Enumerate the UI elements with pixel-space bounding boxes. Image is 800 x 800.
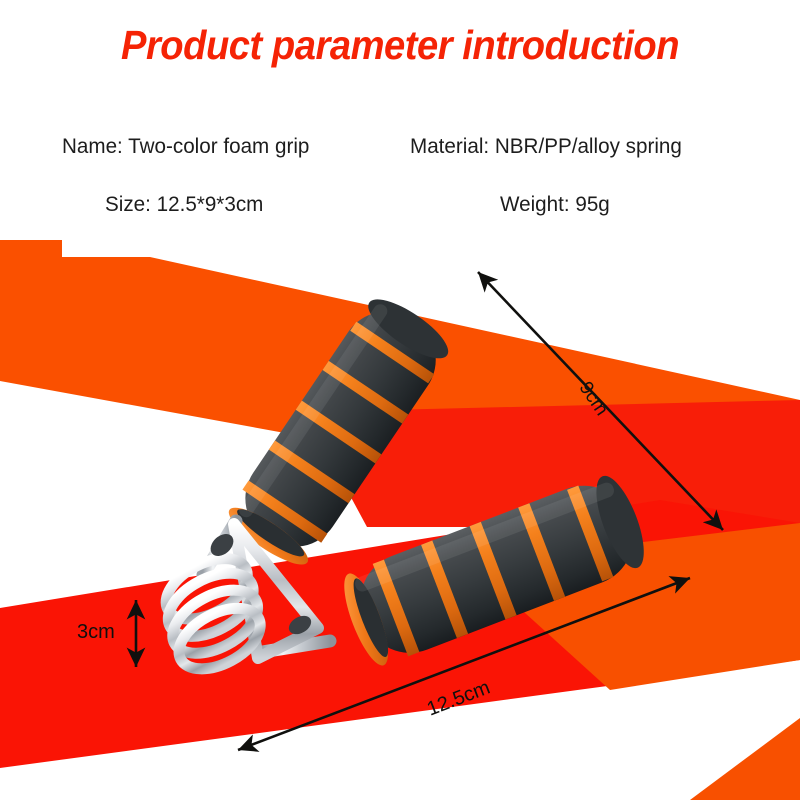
dimension-label-3cm: 3cm [77, 621, 115, 644]
product-infographic: 9cm 12.5cm 3cm Product parameter introdu… [0, 0, 800, 800]
spec-row-1: Name: Two-color foam grip Material: NBR/… [0, 134, 800, 164]
dimension-label-125cm: 12.5cm [424, 676, 493, 721]
spec-name: Name: Two-color foam grip [62, 134, 309, 159]
page-title: Product parameter introduction [28, 22, 772, 69]
header-block: Product parameter introduction Name: Two… [0, 0, 800, 240]
spec-weight: Weight: 95g [500, 192, 610, 217]
spec-row-2: Size: 12.5*9*3cm Weight: 95g [0, 192, 800, 222]
dimension-label-9cm: 9cm [574, 378, 612, 420]
spec-size: Size: 12.5*9*3cm [105, 192, 263, 217]
spec-material: Material: NBR/PP/alloy spring [410, 134, 682, 159]
